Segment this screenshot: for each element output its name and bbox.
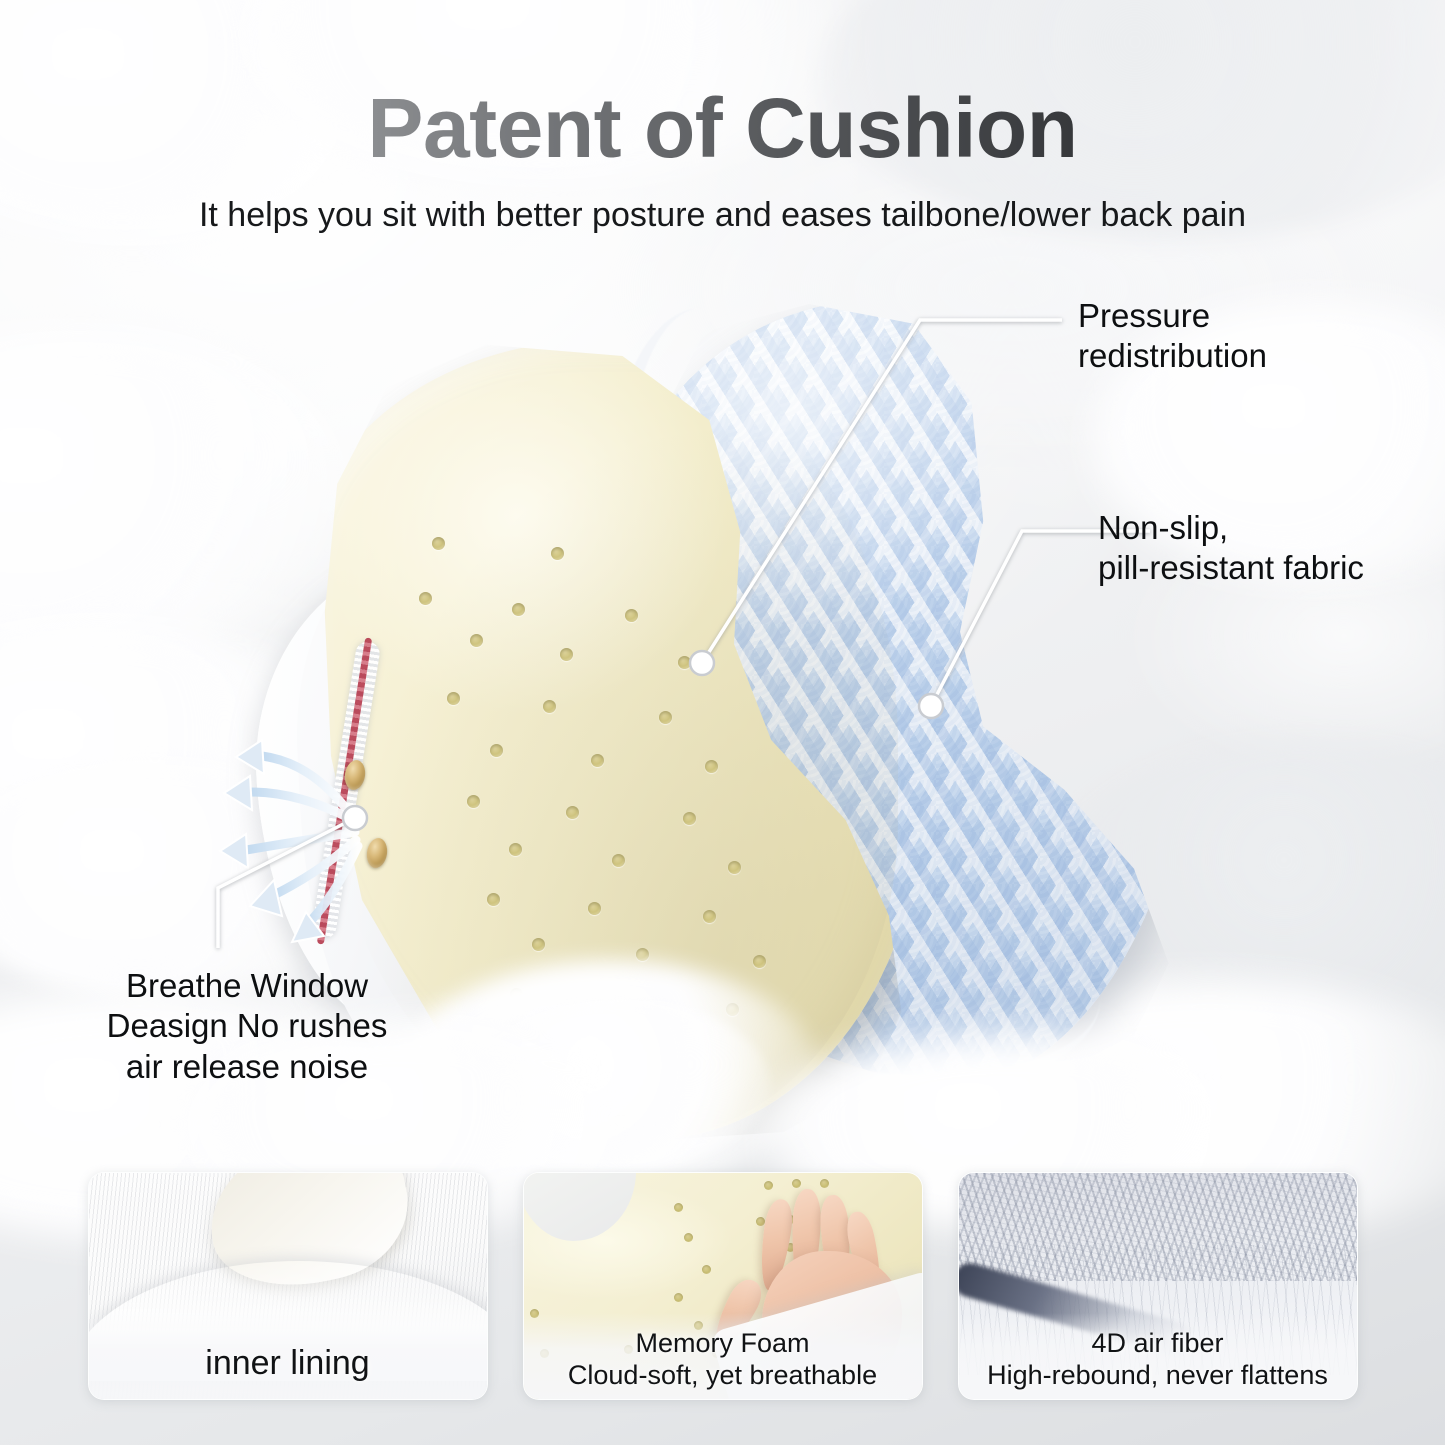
ventilation-hole [625,609,638,622]
ventilation-hole [432,537,445,550]
callout-label-pressure-redistribution: Pressure redistribution [1078,296,1267,377]
ventilation-hole [612,854,625,867]
foam-hole [820,1179,829,1188]
header: Patent of Cushion It helps you sit with … [0,86,1445,238]
page-subtitle: It helps you sit with better posture and… [0,194,1445,238]
airflow-arrows [200,720,460,960]
ventilation-hole [753,955,766,968]
ventilation-hole [664,1042,677,1055]
ventilation-hole [659,711,672,724]
ventilation-hole [551,547,564,560]
ventilation-hole [726,1003,739,1016]
foam-hole [674,1293,683,1302]
ventilation-hole [447,692,460,705]
ventilation-hole [591,754,604,767]
callout-label-breathe-window: Breathe Window Deasign No rushes air rel… [72,966,422,1087]
ventilation-hole [470,634,483,647]
ventilation-hole [636,948,649,961]
panel-caption-inner-lining: inner lining [89,1344,487,1383]
panel-caption-4d-air-fiber: 4D air fiber High-rebound, never flatten… [959,1328,1357,1391]
foam-hole [684,1233,693,1242]
ventilation-hole [512,603,525,616]
ventilation-hole [510,988,523,1001]
ventilation-hole [467,795,480,808]
feature-panel-memory-foam[interactable]: Memory Foam Cloud-soft, yet breathable [523,1172,923,1400]
feature-panel-row: inner lining Memory Foam Cloud-soft, yet… [0,1172,1445,1412]
page-title: Patent of Cushion [0,86,1445,170]
ventilation-hole [543,700,556,713]
ventilation-hole [612,996,625,1009]
ventilation-hole [490,744,503,757]
callout-label-non-slip-fabric: Non-slip, pill-resistant fabric [1098,508,1364,589]
foam-hole [792,1179,801,1188]
ventilation-hole [648,1088,661,1101]
ventilation-hole [678,656,691,669]
ventilation-hole [588,902,601,915]
ventilation-hole [532,938,545,951]
ventilation-hole [703,910,716,923]
ventilation-hole [683,812,696,825]
foam-notch [523,1172,636,1241]
feature-panel-inner-lining[interactable]: inner lining [88,1172,488,1400]
foam-hole [764,1181,773,1190]
ventilation-hole [540,1080,553,1093]
ventilation-hole [705,760,718,773]
ventilation-hole [560,648,573,661]
foam-hole [674,1203,683,1212]
ventilation-hole [419,592,432,605]
ventilation-hole [509,843,522,856]
ventilation-hole [566,806,579,819]
panel-caption-memory-foam: Memory Foam Cloud-soft, yet breathable [524,1328,922,1391]
infographic-canvas: Patent of Cushion It helps you sit with … [0,0,1445,1445]
feature-panel-4d-air-fiber[interactable]: 4D air fiber High-rebound, never flatten… [958,1172,1358,1400]
ventilation-hole [560,1034,573,1047]
ventilation-hole [728,861,741,874]
ventilation-hole [487,893,500,906]
